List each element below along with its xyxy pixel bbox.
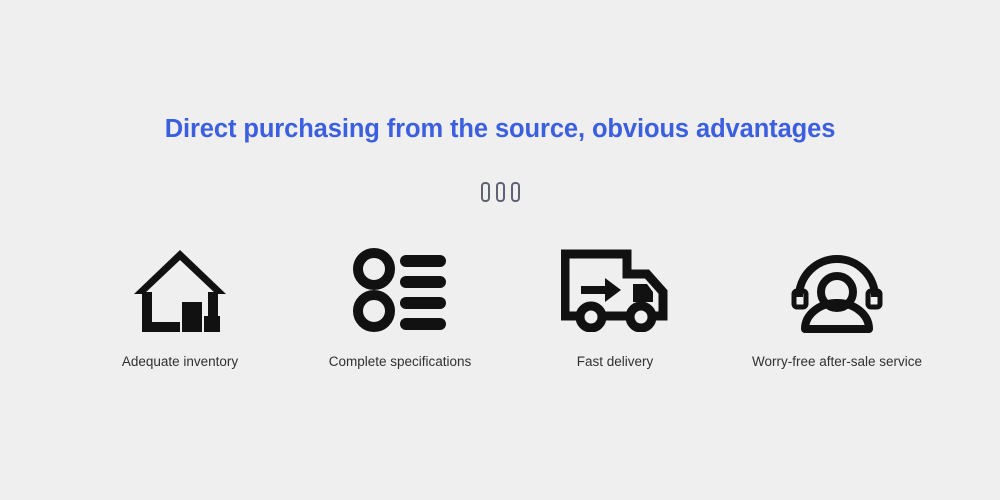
page-title: Direct purchasing from the source, obvio… <box>165 112 836 146</box>
feature-label: Complete specifications <box>280 353 520 371</box>
feature-item-service: Worry-free after-sale service <box>717 240 957 371</box>
feature-icon-container <box>717 240 957 340</box>
feature-label: Fast delivery <box>495 353 735 371</box>
page-title-container: Direct purchasing from the source, obvio… <box>0 112 1000 146</box>
feature-icon-container <box>60 240 300 340</box>
pill-shape-icon <box>511 182 520 202</box>
feature-item-delivery: Fast delivery <box>495 240 735 371</box>
feature-icon-container <box>495 240 735 340</box>
feature-icon-container <box>280 240 520 340</box>
feature-item-specifications: Complete specifications <box>280 240 520 371</box>
feature-list: Adequate inventory <box>0 240 1000 390</box>
three-pill-divider <box>0 182 1000 202</box>
pill-shape-icon <box>481 182 490 202</box>
headset-agent-icon <box>789 247 885 333</box>
feature-item-inventory: Adequate inventory <box>60 240 300 371</box>
promo-banner: Direct purchasing from the source, obvio… <box>0 0 1000 500</box>
list-specifications-icon <box>350 248 450 332</box>
pill-shape-icon <box>496 182 505 202</box>
warehouse-house-boxes-icon <box>130 244 230 336</box>
delivery-truck-icon <box>561 248 669 332</box>
feature-label: Adequate inventory <box>60 353 300 371</box>
feature-label: Worry-free after-sale service <box>717 353 957 371</box>
